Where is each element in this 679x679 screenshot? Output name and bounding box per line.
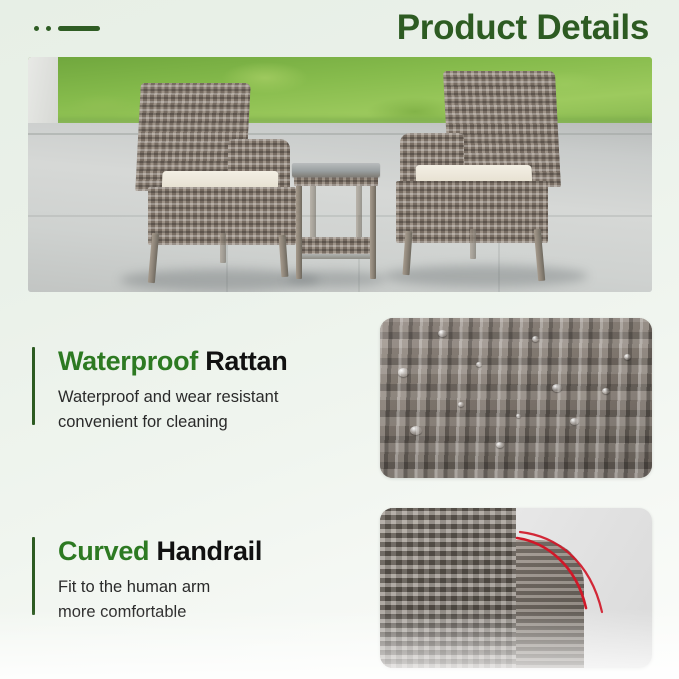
wall-strip — [28, 57, 58, 127]
wet-rattan-texture — [380, 318, 652, 478]
water-droplet — [496, 442, 504, 448]
water-droplet — [458, 402, 464, 407]
chair-shadow — [384, 265, 588, 287]
feature-description: Fit to the human arm more comfortable — [58, 575, 262, 625]
table-glass-top — [292, 163, 380, 177]
accent-bar — [32, 347, 35, 425]
water-droplet — [624, 354, 631, 360]
feature-text-block: Waterproof Rattan Waterproof and wear re… — [58, 347, 287, 435]
feature-curved-handrail: Curved Handrail Fit to the human arm mor… — [32, 537, 362, 637]
curved-handrail-closeup — [380, 508, 652, 668]
feature-waterproof-rattan: Waterproof Rattan Waterproof and wear re… — [32, 347, 362, 447]
accent-bar — [32, 537, 35, 615]
hero-product-image — [28, 57, 652, 292]
table-shelf-edge — [296, 254, 374, 259]
rattan-armchair-right — [390, 71, 580, 279]
waterproof-rattan-closeup — [380, 318, 652, 478]
table-leg — [370, 183, 376, 279]
page-header: Product Details — [0, 0, 679, 56]
deco-dot-2 — [46, 26, 51, 31]
feature-description: Waterproof and wear resistant convenient… — [58, 385, 287, 435]
hero-scene — [28, 57, 652, 292]
water-droplet — [438, 330, 447, 337]
table-apron — [294, 176, 378, 186]
rattan-armchair-left — [120, 83, 300, 279]
feature-title-highlight: Waterproof — [58, 346, 205, 376]
dots-dash-decoration-icon — [34, 26, 100, 31]
page-title: Product Details — [397, 8, 649, 48]
glass-top-side-table — [292, 163, 380, 281]
water-droplet — [516, 414, 521, 418]
table-leg — [296, 183, 302, 279]
water-droplet — [476, 362, 482, 367]
chair-leg — [470, 229, 476, 259]
feature-title-rest: Handrail — [156, 536, 262, 566]
feature-title-highlight: Curved — [58, 536, 156, 566]
curve-annotation-icon — [380, 508, 652, 668]
feature-title: Waterproof Rattan — [58, 347, 287, 375]
water-droplet — [532, 336, 539, 342]
product-details-page: Product Details — [0, 0, 679, 679]
feature-title: Curved Handrail — [58, 537, 262, 565]
water-droplet — [602, 388, 610, 394]
feature-title-rest: Rattan — [205, 346, 287, 376]
deco-dash — [58, 26, 100, 31]
table-lower-shelf — [298, 237, 372, 255]
water-droplet — [410, 426, 422, 435]
deco-dot-1 — [34, 26, 39, 31]
water-droplet — [570, 418, 579, 425]
chair-leg — [220, 233, 226, 263]
water-droplet — [552, 384, 562, 392]
feature-text-block: Curved Handrail Fit to the human arm mor… — [58, 537, 262, 625]
water-droplet — [398, 368, 409, 377]
